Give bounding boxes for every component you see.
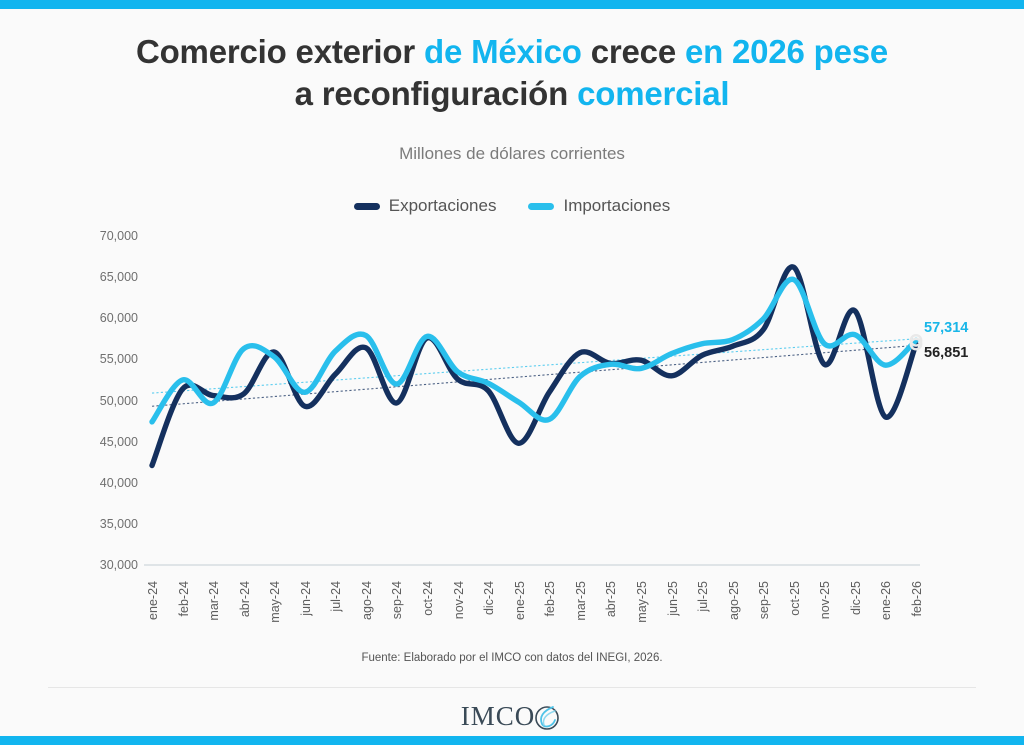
x-axis-tick-label: feb-24	[177, 581, 191, 616]
x-axis-tick-label: ene-25	[513, 581, 527, 620]
title-seg-5: a reconfiguración	[295, 75, 577, 112]
imco-logo-swirl-icon	[531, 702, 563, 732]
legend-swatch-importaciones	[528, 203, 554, 210]
trendline	[152, 339, 916, 393]
imco-logo: IMCO	[0, 701, 1024, 732]
x-axis-tick-label: oct-24	[421, 581, 435, 616]
legend-item-importaciones[interactable]: Importaciones	[528, 196, 670, 216]
x-axis-tick-label: may-24	[268, 581, 282, 623]
x-axis-tick-label: oct-25	[788, 581, 802, 616]
x-axis-tick-label: ago-25	[727, 581, 741, 620]
page-title: Comercio exterior de México crece en 202…	[62, 31, 962, 115]
chart-svg	[0, 224, 1024, 584]
legend-label-importaciones: Importaciones	[563, 196, 670, 216]
end-label-exportaciones: 56,851	[924, 345, 968, 361]
x-axis-tick-label: feb-25	[543, 581, 557, 616]
x-axis-labels: ene-24feb-24mar-24abr-24may-24jun-24jul-…	[0, 575, 1024, 645]
x-axis-tick-label: ene-24	[146, 581, 160, 620]
end-label-importaciones: 57,314	[924, 320, 968, 336]
x-axis-tick-label: ago-24	[360, 581, 374, 620]
chart-plot-area: 57,31456,851	[0, 224, 1024, 584]
legend-label-exportaciones: Exportaciones	[389, 196, 497, 216]
title-seg-6: comercial	[577, 75, 729, 112]
x-axis-tick-label: nov-25	[818, 581, 832, 619]
page-title-line-2: a reconfiguración comercial	[62, 73, 962, 115]
top-accent-bar	[0, 0, 1024, 9]
chart-legend: Exportaciones Importaciones	[0, 196, 1024, 216]
legend-item-exportaciones[interactable]: Exportaciones	[354, 196, 497, 216]
x-axis-tick-label: sep-25	[757, 581, 771, 619]
x-axis-tick-label: jun-24	[299, 581, 313, 616]
x-axis-tick-label: jul-24	[329, 581, 343, 612]
x-axis-tick-label: dic-24	[482, 581, 496, 615]
imco-logo-text: IMCO	[461, 701, 536, 732]
page-title-line-1: Comercio exterior de México crece en 202…	[62, 31, 962, 73]
footer-divider	[48, 687, 976, 688]
title-seg-1: Comercio exterior	[136, 33, 424, 70]
x-axis-tick-label: jul-25	[696, 581, 710, 612]
chart-source-note: Fuente: Elaborado por el IMCO con datos …	[0, 652, 1024, 664]
x-axis-tick-label: feb-26	[910, 581, 924, 616]
x-axis-tick-label: may-25	[635, 581, 649, 623]
x-axis-tick-label: jun-25	[666, 581, 680, 616]
x-axis-tick-label: dic-25	[849, 581, 863, 615]
chart-subtitle: Millones de dólares corrientes	[0, 144, 1024, 164]
title-seg-2: de México	[424, 33, 582, 70]
x-axis-tick-label: sep-24	[390, 581, 404, 619]
x-axis-tick-label: abr-25	[604, 581, 618, 617]
legend-swatch-exportaciones	[354, 203, 380, 210]
title-seg-3: crece	[582, 33, 685, 70]
title-seg-4: en 2026 pese	[685, 33, 888, 70]
series-line	[152, 279, 916, 422]
x-axis-tick-label: nov-24	[452, 581, 466, 619]
x-axis-tick-label: abr-24	[238, 581, 252, 617]
x-axis-tick-label: mar-25	[574, 581, 588, 621]
x-axis-tick-label: mar-24	[207, 581, 221, 621]
x-axis-tick-label: ene-26	[879, 581, 893, 620]
slide-canvas: Comercio exterior de México crece en 202…	[0, 9, 1024, 736]
bottom-accent-bar	[0, 736, 1024, 745]
